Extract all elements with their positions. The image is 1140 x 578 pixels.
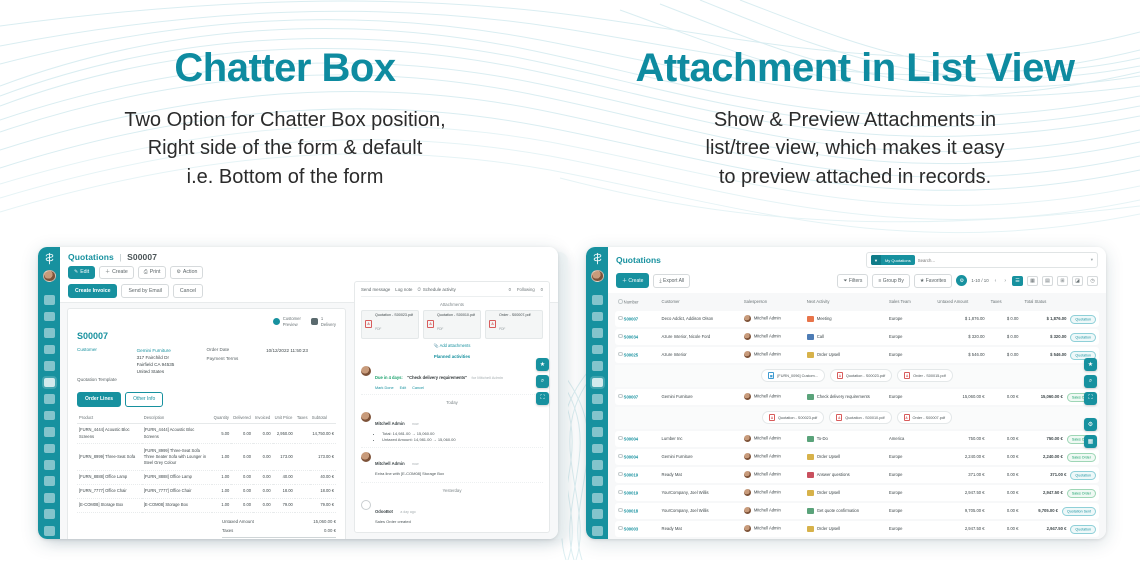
col-customer[interactable]: Customer (659, 295, 741, 309)
customer-preview-label-2: Preview (283, 322, 301, 328)
field-value[interactable]: Gemini Furniture (137, 347, 175, 354)
row-total: $ 546.00 (1050, 352, 1066, 357)
grid-icon[interactable]: ▦ (1084, 435, 1097, 448)
add-attachments-button[interactable]: 📎 Add attachments (361, 343, 543, 349)
sidebar-item-quotations[interactable] (44, 378, 55, 388)
edit-button-label: Edit (80, 270, 89, 275)
sidebar-item-website[interactable] (44, 460, 55, 470)
cell-untaxed: 9,705.00 € (934, 503, 987, 519)
message-avatar (361, 452, 371, 462)
cell-untaxed: 2,947.50 € (934, 521, 987, 537)
table-row[interactable]: S00034 Azure Interior, Nicole Ford Mitch… (615, 329, 1099, 345)
delivery-label: Delivery (321, 322, 336, 328)
cancel-activity-button[interactable]: Cancel (412, 386, 424, 390)
image-icon: ▣ (768, 372, 774, 379)
schedule-activity-button[interactable]: Schedule activity (417, 287, 455, 292)
message-body: Total: 14,981.00 → 15,060.00 Untaxed Amo… (375, 431, 456, 443)
col-number-label: Number (624, 300, 639, 305)
settings-icon[interactable]: ⚙ (1084, 418, 1097, 431)
upsell-icon (807, 454, 814, 460)
attachment-row-cell: A Quotation - S00023.pdf A Quotation - S… (615, 407, 1099, 429)
checklist-icon (807, 508, 814, 514)
sidebar-item-apps[interactable] (592, 509, 603, 519)
cell-customer: Gemini Furniture (659, 449, 741, 465)
attachment-chip[interactable]: A Quotation - S00023.pdf (830, 369, 892, 382)
cell-salesperson: Mitchell Admin (741, 485, 804, 501)
sidebar-item-manufacturing[interactable] (592, 427, 603, 437)
attachment-chip[interactable]: A Order - S00007.pdf (897, 411, 953, 424)
kanban-view-icon[interactable]: ▦ (1027, 276, 1038, 286)
cell-unit-price: 173.00 (273, 444, 295, 470)
chevron-right-icon[interactable]: › (1002, 278, 1008, 284)
row-checkbox[interactable] (618, 454, 623, 459)
chatter-message: Mitchell Admin now Total: 14,981.00 → 15… (361, 408, 543, 448)
message-author: Mitchell Admin (375, 461, 405, 466)
cancel-button[interactable]: Cancel (173, 284, 203, 298)
cell-number[interactable]: S00003 (615, 521, 659, 537)
following-button[interactable]: Following (517, 287, 535, 292)
breadcrumb-app[interactable]: Quotations (68, 252, 114, 262)
row-number: S00025 (624, 352, 638, 357)
print-button[interactable]: ⎙ Print (138, 266, 167, 279)
cell-taxes: 0.00 € (988, 485, 1022, 501)
message-author: OdooBot (375, 509, 393, 514)
cell-quantity: 1.00 (212, 498, 232, 512)
field-label: Customer (77, 347, 137, 375)
cell-subtotal: 79.00 € (310, 498, 336, 512)
field-quotation-template: Quotation Template (77, 377, 207, 382)
send-message-button[interactable]: Send message (361, 287, 390, 292)
expand-icon[interactable]: ⛶ (536, 392, 549, 405)
attachment-row-cell: ▣ [FURN_0096] Custom... A Quotation - S0… (615, 365, 1099, 387)
pdf-icon: A (836, 414, 842, 421)
table-row[interactable]: S00018 YourCompany, Joel Willis Mitchell… (615, 503, 1099, 519)
col-delivered[interactable]: Delivered (231, 412, 253, 424)
subtitle-line: list/tree view, which makes it easy (570, 134, 1140, 162)
message-avatar (361, 412, 371, 422)
cell-total-status: $ 320.00Quotation (1021, 329, 1099, 345)
sidebar-item-apps[interactable] (44, 509, 55, 519)
cell-taxes (295, 498, 310, 512)
search-facet[interactable]: ▼ My Quotations (871, 255, 915, 265)
export-all-button[interactable]: ⤓ Export All (653, 274, 690, 288)
cell-number[interactable]: S00018 (615, 503, 659, 519)
list-view-body: Quotations ▼ My Quotations ▾ ＋ Create (608, 247, 1106, 539)
printer-icon: ⎙ (144, 270, 148, 275)
activity-label: Order Upsell (817, 454, 841, 459)
footer-spacer (615, 539, 659, 540)
upsell-icon (807, 526, 814, 532)
list-view-icon[interactable]: ☰ (1012, 276, 1023, 286)
heading-block-attachment: Attachment in List View Show & Preview A… (570, 0, 1140, 191)
record-title: S00007 (77, 331, 336, 341)
sidebar-item-discuss[interactable] (592, 295, 603, 305)
cell-next-activity: To-Do (804, 431, 886, 447)
sidebar-item-quotations[interactable] (592, 378, 603, 388)
row-number: S00018 (624, 508, 638, 513)
customer-preview-smart-button[interactable]: Customer Preview (273, 316, 301, 327)
cell-taxes: 0.00 € (988, 449, 1022, 465)
sidebar-item-manufacturing[interactable] (44, 427, 55, 437)
sidebar-item-inventory[interactable] (44, 394, 55, 404)
col-taxes[interactable]: Taxes (988, 295, 1022, 309)
checklist-icon (807, 394, 814, 400)
message-line: Untaxed Amount: 14,981.00 → 15,060.00 (382, 437, 456, 443)
bot-avatar (361, 500, 371, 510)
row-number: S00019 (624, 490, 638, 495)
footer-untaxed-total: 36,771.50 (934, 539, 987, 540)
sidebar-item-recruitment[interactable] (592, 493, 603, 503)
cell-sales-team: Europe (886, 449, 934, 465)
cell-invoiced: 0.00 (253, 444, 273, 470)
row-checkbox[interactable] (618, 508, 623, 513)
follower-count[interactable]: 0 (541, 287, 543, 292)
attachment-chip[interactable]: A Quotation - S00023.pdf PDF (361, 310, 419, 339)
cell-number[interactable]: S00025 (615, 347, 659, 363)
create-button[interactable]: ＋ Create (616, 273, 649, 288)
attachments-section-title: Attachments (361, 302, 543, 307)
field-value[interactable]: 10/12/2022 11:50:23 (266, 347, 308, 354)
col-salesperson[interactable]: Salesperson (741, 295, 804, 309)
table-row[interactable]: S00003 Ready Mat Mitchell Admin Order Up… (615, 521, 1099, 537)
row-total: 2,947.50 € (1047, 526, 1067, 531)
cell-total-status: $ 1,876.00Quotation (1021, 311, 1099, 327)
total-grand-row: Total 15,060.00 € (222, 537, 336, 539)
sidebar-item-calendar[interactable] (592, 328, 603, 338)
sidebar-item-purchase[interactable] (44, 444, 55, 454)
attachment-type: PDF (499, 327, 505, 331)
row-total: $ 320.00 (1050, 334, 1066, 339)
cell-salesperson: Mitchell Admin (741, 347, 804, 363)
avatar (744, 453, 751, 460)
field-value-line: 317 Fairchild Dr (137, 354, 175, 361)
attachment-chip[interactable]: A Order - S00007.pdf PDF (485, 310, 543, 339)
attachment-type: PDF (375, 327, 381, 331)
cell-untaxed: 2,947.50 € (934, 485, 987, 501)
edit-activity-button[interactable]: Edit (400, 386, 407, 390)
sidebar-item-contacts[interactable] (44, 345, 55, 355)
cell-invoiced: 0.00 (253, 423, 273, 443)
truck-icon (311, 318, 318, 325)
edit-button[interactable]: ✎ Edit (68, 266, 95, 279)
print-button-label: Print (150, 270, 161, 275)
filters-label: Filters (849, 278, 863, 284)
sidebar-item-sales[interactable] (592, 361, 603, 371)
sidebar-item-settings[interactable] (44, 526, 55, 536)
cell-next-activity: Answer questions (804, 467, 886, 483)
star-icon[interactable]: ★ (1084, 358, 1097, 371)
salesperson-name: Mitchell Admin (754, 490, 781, 495)
form-view-body: Quotations | S00007 ✎ Edit ＋ Create ⎙ (60, 247, 558, 539)
graph-view-icon[interactable]: ◪ (1072, 276, 1083, 286)
sidebar-item-recruitment[interactable] (44, 493, 55, 503)
row-number: S00007 (624, 316, 638, 321)
row-checkbox[interactable] (618, 334, 623, 339)
filters-button[interactable]: ⏷ Filters (837, 274, 868, 288)
cell-total-status: 9,705.00 €Quotation Sent (1021, 503, 1099, 519)
cell-taxes: 0.00 € (988, 431, 1022, 447)
cell-number[interactable]: S00004 (615, 431, 659, 447)
list-header: Quotations ▼ My Quotations ▾ (616, 252, 1098, 268)
cell-subtotal: 14,750.00 € (310, 423, 336, 443)
search-bar[interactable]: ▼ My Quotations ▾ (866, 252, 1098, 268)
delivery-smart-button[interactable]: 1 Delivery (311, 316, 336, 327)
avatar (744, 525, 751, 532)
cell-taxes: $ 0.00 (988, 311, 1022, 327)
cell-salesperson: Mitchell Admin (741, 431, 804, 447)
attachment-chip[interactable]: A Quotation - S00010.pdf (829, 411, 891, 424)
form-action-buttons: ✎ Edit ＋ Create ⎙ Print ⚙ Action (68, 266, 550, 279)
sidebar-item-accounting[interactable] (44, 411, 55, 421)
cell-delivered: 0.00 (231, 470, 253, 484)
table-row[interactable]: S00025 Azure Interior Mitchell Admin Ord… (615, 347, 1099, 363)
row-checkbox[interactable] (618, 352, 623, 357)
search-input[interactable] (918, 258, 1088, 263)
attachment-type: PDF (437, 327, 443, 331)
plus-icon: ＋ (622, 278, 627, 284)
app-sidebar[interactable] (38, 247, 60, 539)
col-invoiced[interactable]: Invoiced (253, 412, 273, 424)
chatter-message: Mitchell Admin now Extra line with [E-CO… (361, 448, 543, 482)
message-line: Extra line with [E-COM08] Storage Box (375, 471, 444, 477)
table-footer-row: 36,771.50 0.00 36,771.50 (615, 539, 1099, 540)
sidebar-item-sales[interactable] (44, 361, 55, 371)
row-checkbox[interactable] (618, 526, 623, 531)
chevron-left-icon[interactable]: ‹ (993, 278, 999, 284)
total-label: Taxes (222, 528, 233, 533)
salesperson-name: Mitchell Admin (754, 352, 781, 357)
export-all-label: Export All (663, 278, 684, 284)
col-subtotal[interactable]: Subtotal (310, 412, 336, 424)
cell-sales-team: America (886, 431, 934, 447)
avatar (744, 351, 751, 358)
row-checkbox[interactable] (618, 472, 623, 477)
footer-taxes-total: 0.00 (988, 539, 1022, 540)
cell-next-activity: Call (804, 329, 886, 345)
cell-sales-team: Europe (886, 329, 934, 345)
breadcrumb-record: S00007 (127, 252, 157, 262)
tab-order-lines[interactable]: Order Lines (77, 392, 121, 407)
row-checkbox[interactable] (618, 436, 623, 441)
action-button[interactable]: ⚙ Action (170, 266, 203, 279)
cell-taxes (295, 470, 310, 484)
user-avatar[interactable] (43, 270, 56, 282)
cell-invoiced: 0.00 (253, 484, 273, 498)
cell-untaxed: 2,240.00 € (934, 449, 987, 465)
app-sidebar[interactable] (586, 247, 608, 539)
cell-number[interactable]: S00007 (615, 389, 659, 405)
cell-number[interactable]: S00034 (615, 329, 659, 345)
col-number[interactable]: Number (615, 295, 659, 309)
search-icon[interactable]: ⌕ (536, 375, 549, 388)
star-icon: ★ (920, 278, 924, 284)
avatar (744, 393, 751, 400)
row-total: 750.00 € (1047, 436, 1063, 441)
promo-banner: Chatter Box Two Option for Chatter Box p… (0, 0, 1140, 578)
table-row[interactable]: [FURN_7777] Office Chair [FURN_7777] Off… (77, 484, 336, 498)
sidebar-item-crm[interactable] (592, 312, 603, 322)
col-quantity[interactable]: Quantity (212, 412, 232, 424)
sidebar-item-employees[interactable] (44, 476, 55, 486)
sidebar-item-accounting[interactable] (592, 411, 603, 421)
sidebar-item-purchase[interactable] (592, 444, 603, 454)
group-by-button[interactable]: ≡ Group By (872, 274, 909, 288)
cell-product: [FURN_4444] Acoustic Bloc Screens (77, 423, 142, 443)
field-label: Quotation Template (77, 377, 137, 382)
sidebar-item-inventory[interactable] (592, 394, 603, 404)
cell-next-activity: Order Upsell (804, 485, 886, 501)
cell-customer: Azure Interior, Nicole Ford (659, 329, 741, 345)
cell-next-activity: Get quote confirmation (804, 503, 886, 519)
order-lines-body: [FURN_4444] Acoustic Bloc Screens [FURN_… (77, 423, 336, 512)
cell-number[interactable]: S00019 (615, 485, 659, 501)
cell-unit-price: 18.00 (273, 484, 295, 498)
tab-other-info[interactable]: Other Info (125, 392, 163, 407)
sidebar-item-employees[interactable] (592, 476, 603, 486)
cell-total-status: 2,240.00 €Sales Order (1021, 449, 1099, 465)
cell-subtotal: 18.00 € (310, 484, 336, 498)
breadcrumb: Quotations (616, 255, 661, 265)
cell-customer: Ready Mat (659, 521, 741, 537)
cell-number[interactable]: S00019 (615, 467, 659, 483)
attachment-chip[interactable]: A Quotation - S00023.pdf (762, 411, 824, 424)
star-icon[interactable]: ★ (536, 358, 549, 371)
avatar (744, 315, 751, 322)
table-row[interactable]: S00007 Gemini Furniture Mitchell Admin C… (615, 389, 1099, 405)
row-checkbox[interactable] (618, 490, 623, 495)
favorites-button[interactable]: ★ Favorites (914, 274, 952, 288)
mark-done-button[interactable]: Mark Done (375, 386, 394, 390)
calendar-view-icon[interactable]: ▤ (1042, 276, 1053, 286)
activity-due: Due in 4 days: (375, 375, 403, 380)
cell-delivered: 0.00 (231, 484, 253, 498)
send-by-email-button[interactable]: Send by Email (121, 284, 168, 298)
activity-label: Order Upsell (817, 490, 841, 495)
attachment-count[interactable]: 0 (509, 287, 511, 292)
sidebar-item-contacts[interactable] (592, 345, 603, 355)
cell-next-activity: Meeting (804, 311, 886, 327)
table-row[interactable]: [FURN_8888] Office Lamp [FURN_8888] Offi… (77, 470, 336, 484)
table-row[interactable]: [FURN_8999] Three-Seat Sofa [FURN_8999] … (77, 444, 336, 470)
cell-delivered: 0.00 (231, 498, 253, 512)
planned-activity: Due in 4 days: "Check delivery requireme… (361, 362, 543, 396)
table-row[interactable]: [E-COM08] Storage Box [E-COM08] Storage … (77, 498, 336, 512)
cell-number[interactable]: S00007 (615, 311, 659, 327)
expand-icon[interactable]: ⛶ (1084, 392, 1097, 405)
cell-description: [FURN_4444] Acoustic Bloc Screens (142, 423, 212, 443)
cell-number[interactable]: S00004 (615, 449, 659, 465)
cell-unit-price: 40.00 (273, 470, 295, 484)
select-all-checkbox[interactable] (618, 299, 623, 304)
row-checkbox[interactable] (618, 394, 623, 399)
cell-total-status: 2,947.50 €Sales Order (1021, 485, 1099, 501)
attachment-name: Quotation - S00010.pdf (845, 416, 884, 420)
cell-quantity: 1.00 (212, 444, 232, 470)
status-badge: Sales Order (1067, 453, 1096, 462)
create-button-label: Create (112, 270, 128, 275)
cell-customer: Gemini Furniture (659, 389, 741, 405)
table-row[interactable]: S00004 Gemini Furniture Mitchell Admin O… (615, 449, 1099, 465)
table-row[interactable]: S00007 Deco Addict, Addison Olson Mitche… (615, 311, 1099, 327)
page-subtitle-right: Show & Preview Attachments in list/tree … (570, 106, 1140, 191)
col-sales-team[interactable]: Sales Team (886, 295, 934, 309)
cell-sales-team: Europe (886, 503, 934, 519)
attachment-chip[interactable]: A Quotation - S00010.pdf PDF (423, 310, 481, 339)
cell-description: [FURN_7777] Office Chair (142, 484, 212, 498)
sidebar-item-calendar[interactable] (44, 328, 55, 338)
message-author: Mitchell Admin (375, 421, 405, 426)
col-untaxed-amount[interactable]: Untaxed Amount (934, 295, 987, 309)
cell-quantity: 1.00 (212, 470, 232, 484)
sidebar-item-crm[interactable] (44, 312, 55, 322)
chevron-down-icon[interactable]: ▾ (1091, 257, 1093, 263)
table-row[interactable]: S00019 YourCompany, Joel Willis Mitchell… (615, 485, 1099, 501)
avatar (744, 489, 751, 496)
col-next-activity[interactable]: Next Activity (804, 295, 886, 309)
attachment-chip[interactable]: ▣ [FURN_0096] Custom... (761, 369, 825, 382)
cell-salesperson: Mitchell Admin (741, 449, 804, 465)
row-checkbox[interactable] (618, 316, 623, 321)
create-invoice-button[interactable]: Create Invoice (68, 284, 117, 298)
cell-salesperson: Mitchell Admin (741, 389, 804, 405)
create-button[interactable]: ＋ Create (99, 266, 134, 279)
cell-subtotal: 173.00 € (310, 444, 336, 470)
salesperson-name: Mitchell Admin (754, 436, 781, 441)
cell-sales-team: Europe (886, 485, 934, 501)
activity-view-icon[interactable]: ◷ (1087, 276, 1098, 286)
sidebar-item-discuss[interactable] (44, 295, 55, 305)
page-title-right: Attachment in List View (570, 48, 1140, 88)
pivot-view-icon[interactable]: ⊞ (1057, 276, 1068, 286)
col-taxes[interactable]: Taxes (295, 412, 310, 424)
col-description[interactable]: Description (142, 412, 212, 424)
search-icon[interactable]: ⌕ (1084, 375, 1097, 388)
table-row[interactable]: S00004 Lumber Inc Mitchell Admin To-Do A… (615, 431, 1099, 447)
pdf-icon: A (837, 372, 843, 379)
col-total-status[interactable]: Total Status (1021, 295, 1099, 309)
table-row[interactable]: S00019 Ready Mat Mitchell Admin Answer q… (615, 467, 1099, 483)
chatter-toolbar: Send message Log note Schedule activity … (361, 287, 543, 297)
log-note-button[interactable]: Log note (395, 287, 412, 292)
form-sheet: Customer Preview 1 Delivery S00007 (67, 308, 346, 539)
field-order-date: Order Date 10/12/2022 11:50:23 (207, 347, 337, 354)
activity-label: Get quote confirmation (817, 508, 859, 513)
settings-icon[interactable]: ⚙ (956, 275, 967, 286)
attachment-chip-list: A Quotation - S00023.pdf PDF A Quotation… (361, 310, 543, 339)
attachment-row: A Quotation - S00023.pdf A Quotation - S… (615, 407, 1099, 429)
col-unit-price[interactable]: Unit Price (273, 412, 295, 424)
todo-icon (807, 436, 814, 442)
salesperson-name: Mitchell Admin (754, 508, 781, 513)
table-row[interactable]: [FURN_4444] Acoustic Bloc Screens [FURN_… (77, 423, 336, 443)
table-header-row: Product Description Quantity Delivered I… (77, 412, 336, 424)
subtitle-line: Show & Preview Attachments in (570, 106, 1140, 134)
row-total: 15,060.00 € (1041, 394, 1063, 399)
page-subtitle-left: Two Option for Chatter Box position, Rig… (0, 106, 570, 191)
attachment-name: Quotation - S00023.pdf (375, 313, 413, 317)
salesperson-name: Mitchell Admin (754, 334, 781, 339)
row-number: S00034 (624, 334, 638, 339)
attachment-chip[interactable]: A Order - S00015.pdf (897, 369, 953, 382)
cell-total-status: 2,947.50 €Quotation (1021, 521, 1099, 537)
question-icon (807, 472, 814, 478)
quotations-table: Number Customer Salesperson Next Activit… (608, 293, 1106, 539)
form-float-toolbar: ★ ⌕ ⛶ (536, 358, 549, 405)
sidebar-item-website[interactable] (592, 460, 603, 470)
sidebar-item-settings[interactable] (592, 526, 603, 536)
col-product[interactable]: Product (77, 412, 142, 424)
user-avatar[interactable] (591, 270, 604, 282)
